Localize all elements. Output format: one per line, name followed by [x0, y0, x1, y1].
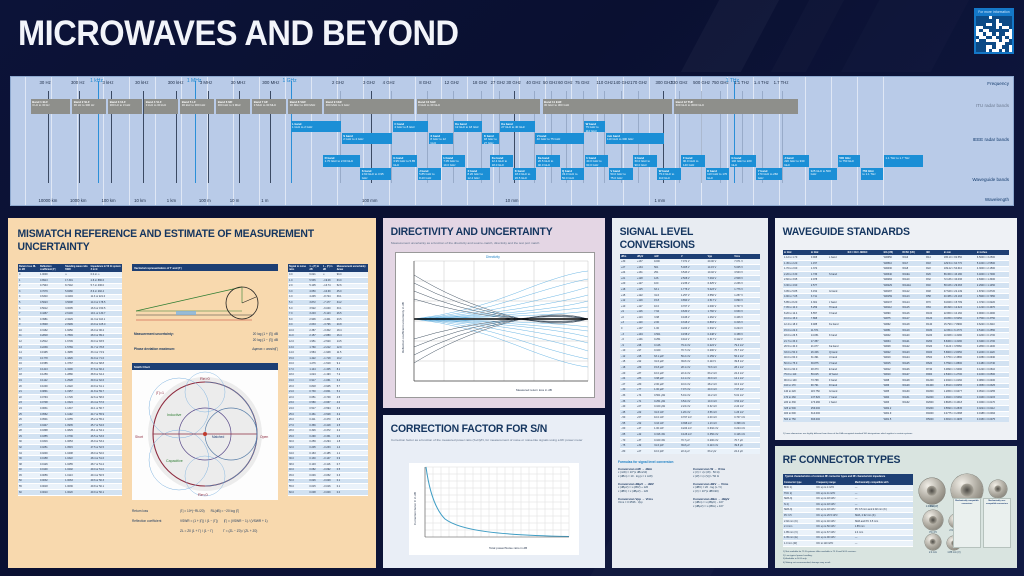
- spectrum-frequency-label: 30 MHz: [231, 80, 246, 85]
- spectrum-accent-tick: [98, 81, 99, 183]
- uncertainty-formula-2: 20 log (1 − |Γ|) dB: [253, 338, 278, 342]
- svg-text:Capacitive: Capacitive: [166, 459, 183, 463]
- spectrum-band[interactable]: L band1 GHz to 2 GHz: [291, 121, 342, 132]
- spectrum-gridline: [675, 77, 676, 205]
- spectrum-band[interactable]: S band2.60 GHz to 3.95 GHz: [360, 168, 391, 180]
- spectrum-wavelength-label: 1 km: [167, 198, 176, 203]
- spectrum-band[interactable]: R band1.70 GHz to 2.60 GHz: [323, 155, 360, 167]
- signal-level-table: dBmdBµVmWVVppVrms+30+13710007.071 V20.00…: [620, 254, 760, 454]
- panel-title: CORRECTION FACTOR FOR S/N: [383, 415, 594, 436]
- header: MICROWAVES AND BEYOND For more informati…: [0, 0, 1024, 72]
- spectrum-frequency-label: 3 GHz: [363, 80, 375, 85]
- panel-signal-level-conversions: SIGNAL LEVEL CONVERSIONS dBmdBµVmWVVppVr…: [612, 218, 768, 568]
- table-cell: 393.000: [810, 417, 828, 422]
- panel-directivity-uncertainty: DIRECTIVITY AND UNCERTAINTY Measurement …: [383, 218, 605, 408]
- return-loss-formula-1: |Γ| = 10^(−RL/20): [180, 508, 205, 514]
- conversion-formula: Conversion dBm → dBµVx (dBm) = x (dBµV) …: [693, 497, 764, 509]
- table-cell: 500 to 750: [783, 417, 810, 422]
- page-title: MICROWAVES AND BEYOND: [18, 14, 459, 54]
- spectrum-band[interactable]: Band 1 ELF3 Hz to 30 Hz: [31, 99, 70, 114]
- spectrum-band[interactable]: V band40 GHz to 75 GHz: [535, 133, 583, 144]
- smith-chart-svg: Re>0 Re<0 Inductive Capacitive Short Ope…: [132, 370, 278, 500]
- table-cell: [847, 417, 883, 422]
- spectrum-gridline: [51, 77, 52, 205]
- table-cell: 1.0020: [64, 489, 89, 495]
- connector-photo: [919, 478, 945, 504]
- return-loss-label: Return loss: [132, 508, 174, 514]
- spectrum-row-label: ITU radar bands: [976, 103, 1009, 108]
- conversion-formula: Conversion W → Vrmsx (V) = √(x (W) · 50 …: [693, 467, 764, 479]
- spectrum-frequency-label: 30 GHz: [506, 80, 521, 85]
- spectrum-gridline: [753, 77, 754, 205]
- table-cell: 0.0010: [39, 489, 64, 495]
- frequency-spectrum-chart: 30 Hz300 Hz1 kHz3 kHz30 kHz300 kHz1 MHz3…: [10, 76, 1014, 206]
- connector-photo-label: 1.85 mm (V): [947, 551, 961, 554]
- vector-diagram-svg: [132, 271, 278, 329]
- spectrum-row-label: Frequency: [987, 81, 1009, 86]
- panel-subtitle: Correction factor as a function of the m…: [383, 436, 605, 442]
- table-header-cell: 1 + |Γ| in dB: [308, 264, 321, 272]
- connector-photo: [925, 534, 941, 550]
- connector-footnote: 4) Mating not recommended; damage may re…: [783, 562, 943, 565]
- spectrum-wavelength-label: 10 mm: [505, 198, 518, 203]
- spectrum-gridline: [311, 77, 312, 205]
- connector-group-label: Mechanically non-compatible connectors: [984, 499, 1010, 506]
- spectrum-row-label: Wavelength: [985, 197, 1009, 202]
- table-cell: [901, 417, 925, 422]
- connector-photo: [989, 480, 1007, 498]
- table-cell: −0.009: [322, 489, 336, 495]
- table-cell: 60.0: [288, 489, 308, 495]
- smith-chart-figure: Re>0 Re<0 Inductive Capacitive Short Ope…: [132, 370, 278, 500]
- spectrum-frequency-label: 300 Hz: [71, 80, 85, 85]
- table-header-cell: 1 − |Γ| in dB: [322, 264, 336, 272]
- svg-text:Re>0: Re>0: [200, 376, 210, 381]
- spectrum-gridline: [337, 77, 338, 205]
- spectrum-band[interactable]: W band75 GHz to 110 GHz: [584, 121, 605, 132]
- directivity-chart-svg: Measured return loss in dB Reflection co…: [396, 253, 595, 398]
- spectrum-gridline: [805, 77, 806, 205]
- spectrum-band[interactable]: X band8 GHz to 12 GHz: [429, 133, 453, 144]
- spectrum-band[interactable]: Band 7 HF3 MHz to 30 MHz: [252, 99, 286, 114]
- spectrum-band[interactable]: S band2 GHz to 4 GHz: [342, 133, 393, 144]
- spectrum-frequency-label: 1.7 THz: [774, 80, 789, 85]
- qr-code-block[interactable]: For more information: [974, 8, 1014, 54]
- smith-chart-title: Smith Chart: [132, 363, 278, 370]
- spectrum-band[interactable]: V band50.0 GHz to 75.0 GHz: [609, 168, 633, 180]
- spectrum-gridline: [415, 77, 416, 205]
- spectrum-band[interactable]: U band40.0 GHz to 60.0 GHz: [585, 155, 609, 167]
- svg-text:Reflection coefficient uncerta: Reflection coefficient uncertainty in dB: [401, 302, 405, 353]
- spectrum-wavelength-label: 1 mm: [654, 198, 665, 203]
- spectrum-band[interactable]: mm band110 GHz to 300 GHz: [606, 133, 665, 144]
- table-cell: 1.0 mm (W): [783, 541, 815, 547]
- spectrum-wavelength-label: 100 mm: [362, 198, 378, 203]
- spectrum-row-label: IEEE radar bands: [973, 137, 1009, 142]
- panel-title: MISMATCH REFERENCE AND ESTIMATE OF MEASU…: [8, 218, 358, 253]
- spectrum-frequency-label: 4 GHz: [383, 80, 395, 85]
- formulas-grid: Conversion mW → dBmx (mW) = 10^(x dBm/10…: [618, 467, 764, 509]
- spectrum-band[interactable]: K band18.0 GHz to 26.5 GHz: [513, 168, 536, 180]
- panel-subtitle: Measurement uncertainty as a function of…: [383, 239, 605, 245]
- table-row: 600.00101.002049.9 or 50.1: [18, 489, 122, 495]
- table-header-cell: Standing wave ratio SWR: [64, 264, 89, 272]
- spectrum-band[interactable]: Band 10 SHF3 GHz to 30 GHz: [417, 99, 541, 114]
- svg-text:Inductive: Inductive: [167, 413, 181, 417]
- signal-table-wrap: dBmdBµVmWVVppVrms+30+13710007.071 V20.00…: [620, 254, 760, 454]
- waveguide-standards-table: in GHzin GHzIEC / CEI / JEDECEIA (US)RCS…: [783, 250, 1009, 422]
- spectrum-band[interactable]: Band 2 SLF30 Hz to 300 Hz: [72, 99, 106, 114]
- spectrum-frequency-label: 140 GHz: [613, 80, 630, 85]
- svg-text:Measured return loss in dB: Measured return loss in dB: [516, 388, 552, 392]
- table-cell: 0.0150 × 0.0075: [976, 417, 1009, 422]
- spectrum-band[interactable]: Band 6 MF300 kHz to 3 MHz: [216, 99, 250, 114]
- spectrum-band[interactable]: J band220 GHz to 330 GHz: [783, 155, 809, 167]
- mismatch-reference-table: Return loss RL in dBReflection coefficie…: [18, 264, 122, 496]
- spectrum-gridline: [831, 77, 832, 205]
- qr-caption: For more information: [976, 10, 1012, 15]
- spectrum-band[interactable]: Band 12 THF300 GHz to 3000 GHz: [674, 99, 798, 114]
- panel-mismatch-reference: MISMATCH REFERENCE AND ESTIMATE OF MEASU…: [8, 218, 376, 568]
- spectrum-gridline: [285, 77, 286, 205]
- conversion-formula-line: x (W) = (x (V))² / 50 Ω: [693, 475, 764, 479]
- spectrum-wavelength-label: 10 m: [230, 198, 240, 203]
- reflection-coefficient-label: Reflection coefficient: [132, 518, 174, 524]
- connector-group-box: Mechanically compatible connectors: [953, 498, 981, 548]
- table-header-cell: Reflection coefficient |Γ|: [39, 264, 64, 272]
- conversion-formula-line: x (dBm) = 10 · log (x / 1 mW): [618, 475, 689, 479]
- connector-table-wrap: Typical characteristics of common RF con…: [783, 474, 913, 547]
- svg-text:Matched: Matched: [212, 435, 224, 439]
- uncertainty-label: Measurement uncertainty:: [134, 331, 174, 337]
- connector-group-box: Mechanically non-compatible connectors: [983, 498, 1011, 548]
- spectrum-band[interactable]: Y band170 GHz to 260 GHz: [756, 168, 782, 180]
- spectrum-band[interactable]: 500 GHzto 750 GHz: [838, 155, 861, 167]
- svg-text:Directivity: Directivity: [486, 255, 500, 259]
- spectrum-frequency-label: 30 kHz: [135, 80, 148, 85]
- conversion-formula-line: x (dBµV) = x (dBm) + 107: [693, 505, 764, 509]
- spectrum-gridline: [259, 77, 260, 205]
- conversion-formula-line: x (dBV) = x (dBµV) − 120: [618, 490, 689, 494]
- spectrum-frequency-label: 1.1 THz: [734, 80, 749, 85]
- spectrum-frequency-label: 3 MHz: [200, 80, 212, 85]
- spectrum-frequency-label: 2 GHz: [332, 80, 344, 85]
- conversion-formula-line: x (V) = 10^(x dBV/20): [693, 490, 764, 494]
- table-row: 60.00.008−0.0090.0: [288, 489, 368, 495]
- spectrum-frequency-label: 300 MHz: [262, 80, 279, 85]
- table-cell: 49.9 or 50.1: [90, 489, 122, 495]
- connector-footnotes: 1) Not available for 75 Ω systems. Also …: [783, 551, 943, 565]
- spectrum-frequency-label: 50 GHz: [543, 80, 558, 85]
- spectrum-frequency-label: 1 GHz: [283, 78, 297, 84]
- table-row: 500 to 750393.000WR1.5R50000.3810 × 0.19…: [783, 417, 1009, 422]
- table-cell: —: [854, 541, 913, 547]
- spectrum-frequency-label: 3 kHz: [103, 80, 114, 85]
- spectrum-gridline: [779, 77, 780, 205]
- spectrum-band[interactable]: H band7.05 GHz to 10.0 GHz: [442, 155, 466, 167]
- spectrum-gridline: [883, 77, 884, 205]
- panel-title: DIRECTIVITY AND UNCERTAINTY: [383, 218, 594, 239]
- panel-correction-factor: CORRECTION FACTOR FOR S/N Correction fac…: [383, 415, 605, 568]
- spectrum-band[interactable]: 1.1 THz to 1.7 THz: [884, 155, 923, 167]
- spectrum-frequency-label: 330 GHz: [671, 80, 688, 85]
- spectrum-band[interactable]: Band 3 ULF300 Hz to 3 kHz: [108, 99, 142, 114]
- conversion-formula: Conversion dBV → Vrmsx (dBV) = 20 · log …: [693, 482, 764, 494]
- table-cell: 0.3810 × 0.1905: [943, 417, 976, 422]
- table-cell: 0.0: [336, 489, 368, 495]
- spectrum-band[interactable]: W band75.0 GHz to 110 GHz: [657, 168, 681, 180]
- spectrum-band[interactable]: Band 11 EHF30 GHz to 300 GHz: [543, 99, 672, 114]
- smith-chart-block: Smith Chart Re>0 Re<0 Inductive: [132, 363, 278, 503]
- spectrum-frequency-label: 8 GHz: [419, 80, 431, 85]
- spectrum-gridline: [129, 77, 130, 205]
- table-header-cell: Return loss RL in dB: [18, 264, 39, 272]
- spectrum-frequency-label: 40 GHz: [526, 80, 541, 85]
- spectrum-band[interactable]: E band60.0 GHz to 90.0 GHz: [633, 155, 657, 167]
- phase-deviation-label: Phase deviation maximum:: [134, 346, 175, 352]
- qr-code-icon[interactable]: [976, 16, 1012, 52]
- reflection-formula-4: Γ = (ZL − Z0) / (ZL + Z0): [223, 528, 257, 534]
- spectrum-wavelength-label: 10 km: [134, 198, 146, 203]
- table-header-cell: Signal to noise ratio: [288, 264, 308, 272]
- spectrum-band[interactable]: G band3.95 GHz to 5.85 GHz: [392, 155, 417, 167]
- waveguide-footnote: 1) Inner dimensions are slightly differe…: [783, 433, 1009, 436]
- spectrum-frequency-label: 27 GHz: [491, 80, 506, 85]
- spectrum-frequency-label: 110 GHz: [596, 80, 613, 85]
- spectrum-band[interactable]: Band 4 VLF3 kHz to 30 kHz: [144, 99, 178, 114]
- conversion-formula: Conversion mW → dBmx (mW) = 10^(x dBm/10…: [618, 467, 689, 479]
- spectrum-band[interactable]: Ku band12 GHz to 18 GHz: [454, 121, 482, 132]
- waveguide-table-wrap: in GHzin GHzIEC / CEI / JEDECEIA (US)RCS…: [783, 250, 1009, 422]
- spectrum-wavelength-label: 1000 km: [70, 198, 86, 203]
- return-loss-formula-2: RL(dB) = −20 log |Γ|: [211, 508, 240, 514]
- svg-text:|Γ|=1: |Γ|=1: [156, 391, 164, 395]
- svg-text:Correction factor C in dB: Correction factor C in dB: [413, 492, 417, 525]
- spectrum-gridline: [103, 77, 104, 205]
- spectrum-frequency-label: 300 kHz: [168, 80, 184, 85]
- spectrum-band[interactable]: Band 5 LF30 kHz to 300 kHz: [180, 99, 214, 114]
- spectrum-frequency-label: 12 GHz: [445, 80, 460, 85]
- reflection-formula-2: |Γ| = (VSWR − 1) / (VSWR + 1): [224, 518, 268, 524]
- table-cell: R5000: [925, 417, 943, 422]
- spectrum-band[interactable]: Ka band27 GHz to 40 GHz: [500, 121, 535, 132]
- correction-chart: Total power/Noise ratio in dB Correction…: [409, 463, 579, 555]
- spectrum-band[interactable]: F band90.0 GHz to 140 GHz: [681, 155, 705, 167]
- spectrum-band[interactable]: Q band33.0 GHz to 50.0 GHz: [561, 168, 585, 180]
- poster-root: MICROWAVES AND BEYOND For more informati…: [0, 0, 1024, 576]
- panel-title: RF CONNECTOR TYPES: [775, 446, 1005, 467]
- spectrum-frequency-label: 75 GHz: [575, 80, 590, 85]
- table-header-cell: Impedance in 50 Ω system Z in Ω: [90, 264, 122, 272]
- spectrum-band[interactable]: J band5.85 GHz to 8.20 GHz: [418, 168, 442, 180]
- spectrum-band[interactable]: 750 GHzto 1.1 THz: [861, 168, 884, 180]
- spectrum-gridline: [519, 77, 520, 205]
- spectrum-gridline: [155, 77, 156, 205]
- spectrum-gridline: [181, 77, 182, 205]
- directivity-chart: Measured return loss in dB Reflection co…: [395, 252, 595, 398]
- spectrum-gridline: [25, 77, 26, 205]
- spectrum-wavelength-label: 10000 km: [39, 198, 58, 203]
- spectrum-frequency-label: 60 GHz: [558, 80, 573, 85]
- spectrum-gridline: [857, 77, 858, 205]
- spectrum-band[interactable]: Ku band12.4 GHz to 18.0 GHz: [490, 155, 513, 167]
- panel-title: SIGNAL LEVEL CONVERSIONS: [612, 218, 760, 251]
- conversion-formula: Conversion Vpp → VrmsVrms = 0.3536 · Vpp: [618, 497, 689, 509]
- connector-photo: [923, 510, 943, 530]
- table-cell: WR1.5: [883, 417, 902, 422]
- spectrum-gridline: [77, 77, 78, 205]
- spectrum-gridline: [467, 77, 468, 205]
- reflection-formula-3: ZL = Z0 (1 + Γ) / (1 − Γ): [180, 528, 213, 534]
- measurement-uncertainty-table: Signal to noise ratio1 + |Γ| in dB1 − |Γ…: [288, 264, 368, 496]
- spectrum-frequency-label: 1 kHz: [90, 78, 103, 84]
- panel-rf-connector-types: RF CONNECTOR TYPES Typical characteristi…: [775, 446, 1017, 568]
- vector-diagram-title: Vectorial representation of Γ and |Γ|: [132, 264, 278, 271]
- spectrum-accent-tick: [291, 81, 292, 183]
- table-cell: DC to 110 GHz: [815, 541, 853, 547]
- spectrum-band[interactable]: Ka band26.5 GHz to 40.0 GHz: [536, 155, 560, 167]
- connector-types-table: Connector typeFrequency rangeMechanicall…: [783, 480, 913, 547]
- svg-text:Short: Short: [135, 435, 143, 439]
- spectrum-gridline: [727, 77, 728, 205]
- spectrum-band[interactable]: 325 GHz to 500 GHz: [809, 168, 837, 180]
- reflection-formula-1: VSWR = (1 + |Γ|) / (1 − |Γ|): [180, 518, 218, 524]
- panel-waveguide-standards: WAVEGUIDE STANDARDS in GHzin GHzIEC / CE…: [775, 218, 1017, 440]
- table-row: 1.0 mm (W)DC to 110 GHz—: [783, 541, 913, 547]
- spectrum-accent-tick: [195, 81, 196, 183]
- table-cell: 60: [18, 489, 39, 495]
- spectrum-band[interactable]: C band4 GHz to 8 GHz: [393, 121, 428, 132]
- signal-formulas-block: Formulas for signal level conversion Con…: [618, 460, 764, 509]
- vector-diagram-block: Vectorial representation of Γ and |Γ| Me…: [132, 264, 278, 358]
- spectrum-band[interactable]: D band110 GHz to 170 GHz: [706, 168, 730, 180]
- conversion-formula: Conversion dBµV → dBVx (dBµV) = x (dBV) …: [618, 482, 689, 494]
- panel-title: WAVEGUIDE STANDARDS: [775, 218, 1005, 239]
- spectrum-frequency-label: 500 GHz: [693, 80, 710, 85]
- connector-photo-gallery: BNCNSMAPC 3.52.92 mm (K)2.4 mm1.85 mm (V…: [917, 472, 1013, 550]
- table-header-cell: Measurement uncertainty Δmax: [336, 264, 368, 272]
- spectrum-gridline: [597, 77, 598, 205]
- conversion-formula-line: Vrms = 0.3536 · Vpp: [618, 501, 689, 505]
- table-cell: 0.008: [308, 489, 321, 495]
- spectrum-wavelength-label: 100 m: [199, 198, 211, 203]
- spectrum-band[interactable]: Band 8 VHF30 MHz to 300 MHz: [288, 99, 322, 114]
- connector-group-label: Mechanically compatible connectors: [954, 499, 980, 506]
- svg-text:Open: Open: [260, 435, 268, 439]
- phase-deviation-formula: Δφmax = arcsin|Γ|: [252, 346, 278, 352]
- spectrum-wavelength-label: 100 km: [102, 198, 116, 203]
- spectrum-row-label: Waveguide bands: [972, 177, 1009, 182]
- spectrum-accent-tick: [734, 81, 735, 183]
- spectrum-frequency-label: 1.4 THz: [754, 80, 769, 85]
- spectrum-band[interactable]: G band140 GHz to 220 GHz: [730, 155, 756, 167]
- mismatch-left-table-wrap: Return loss RL in dBReflection coefficie…: [18, 264, 122, 560]
- spectrum-frequency-label: 170 GHz: [630, 80, 647, 85]
- spectrum-gridline: [233, 77, 234, 205]
- spectrum-frequency-label: 30 Hz: [40, 80, 51, 85]
- formulas-title: Formulas for signal level conversion: [618, 460, 764, 464]
- spectrum-band[interactable]: K band18 GHz to 27 GHz: [482, 133, 499, 144]
- table-cell: [828, 417, 847, 422]
- svg-text:Re<0: Re<0: [198, 492, 208, 497]
- mismatch-right-table-wrap: Signal to noise ratio1 + |Γ| in dB1 − |Γ…: [288, 264, 368, 560]
- spectrum-band[interactable]: Band 9 UHF300 MHz to 3 GHz: [324, 99, 414, 114]
- spectrum-frequency-label: 18 GHz: [473, 80, 488, 85]
- spectrum-wavelength-label: 1 m: [261, 198, 268, 203]
- correction-chart-svg: Total power/Noise ratio in dB Correction…: [409, 463, 579, 555]
- spectrum-band[interactable]: X band8.20 GHz to 12.4 GHz: [466, 168, 490, 180]
- connector-photo-label: 1.0 mm (W): [919, 505, 945, 508]
- mismatch-formula-block: Return loss |Γ| = 10^(−RL/20) RL(dB) = −…: [132, 508, 282, 534]
- svg-text:Total power/Noise ratio in dB: Total power/Noise ratio in dB: [489, 546, 527, 550]
